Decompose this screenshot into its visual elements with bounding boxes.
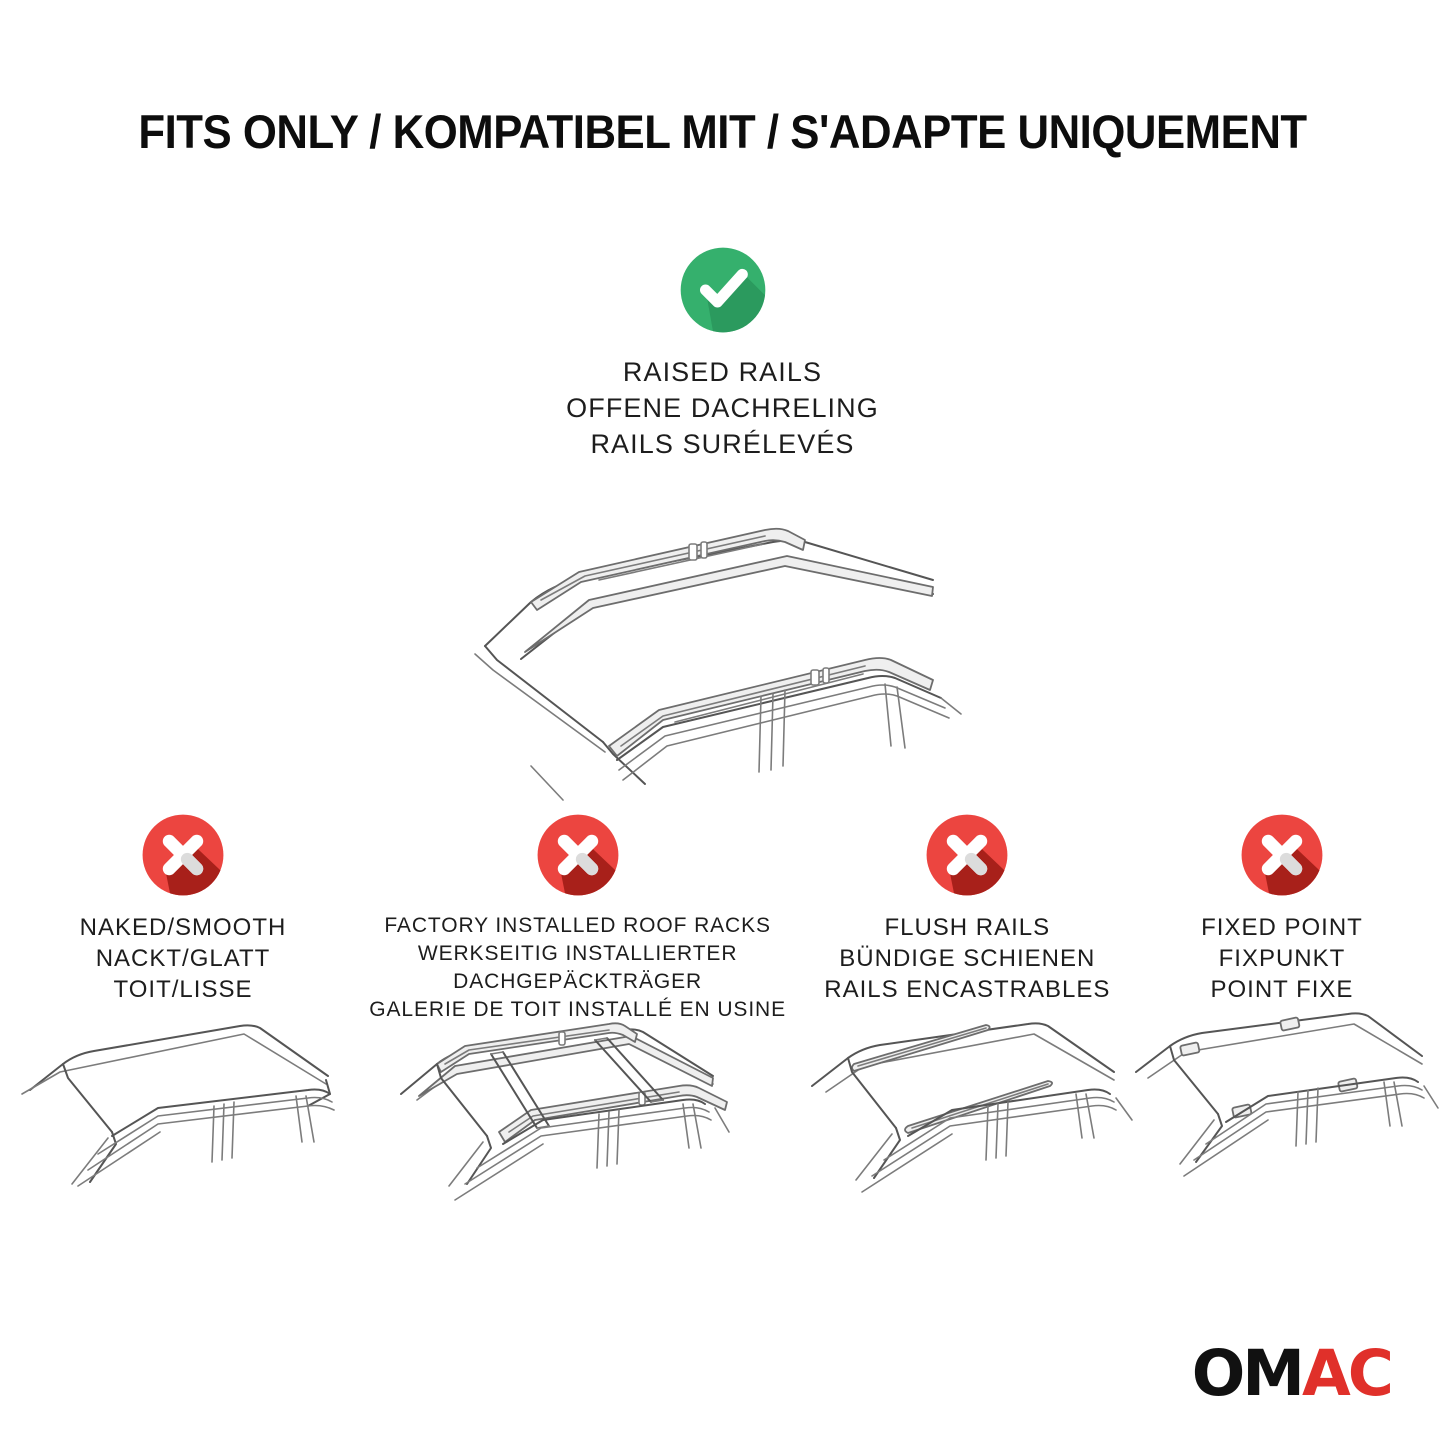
flush-rails-label: FLUSH RAILS BÜNDIGE SCHIENEN RAILS ENCAS… [824,912,1110,1005]
incompatible-item-factory-racks: FACTORY INSTALLED ROOF RACKS WERKSEITIG … [358,812,798,1024]
fixed-point-label: FIXED POINT FIXPUNKT POINT FIXE [1201,912,1363,1005]
red-x-circle-icon [535,812,621,898]
logo-text-ac: AC [1302,1342,1391,1405]
compatible-label-line-1: RAISED RAILS [566,354,879,390]
car-roof-factory-racks-illustration [383,1008,773,1238]
red-x-circle-icon [140,812,226,898]
naked-smooth-label-line-2: NACKT/GLATT [80,943,287,974]
car-roof-raised-rails-illustration [413,484,1033,804]
naked-smooth-label-line-3: TOIT/LISSE [80,974,287,1005]
flush-rails-label-line-2: BÜNDIGE SCHIENEN [824,943,1110,974]
car-roof-naked-smooth-illustration [8,1002,358,1232]
factory-racks-label-line-1: FACTORY INSTALLED ROOF RACKS [369,912,786,940]
car-roof-factory-racks-illustration-wrap [383,1008,773,1238]
naked-smooth-label: NAKED/SMOOTH NACKT/GLATT TOIT/LISSE [80,912,287,1005]
incompatible-item-naked-smooth: NAKED/SMOOTH NACKT/GLATT TOIT/LISSE [18,812,348,1005]
car-roof-flush-rails-illustration [792,1002,1142,1232]
fixed-point-label-line-2: FIXPUNKT [1201,943,1363,974]
incompatible-section: NAKED/SMOOTH NACKT/GLATT TOIT/LISSE [0,812,1445,1024]
car-roof-fixed-point-illustration [1122,1002,1442,1232]
flush-rails-label-line-1: FLUSH RAILS [824,912,1110,943]
flush-rails-label-line-3: RAILS ENCASTRABLES [824,974,1110,1005]
car-roof-naked-smooth-illustration-wrap [8,1002,358,1232]
fixed-point-label-line-1: FIXED POINT [1201,912,1363,943]
compatible-section: RAISED RAILS OFFENE DACHRELING RAILS SUR… [0,244,1445,804]
factory-racks-label-line-3: DACHGEPÄCKTRÄGER [369,968,786,996]
compatible-label: RAISED RAILS OFFENE DACHRELING RAILS SUR… [566,354,879,462]
green-check-circle-icon [677,244,769,336]
compatible-label-line-2: OFFENE DACHRELING [566,390,879,426]
logo-text-om: OM [1192,1342,1302,1405]
omac-logo: OMAC [1192,1342,1391,1405]
incompatible-item-fixed-point: FIXED POINT FIXPUNKT POINT FIXE [1137,812,1427,1005]
car-roof-fixed-point-illustration-wrap [1122,1002,1442,1232]
page-title: FITS ONLY / KOMPATIBEL MIT / S'ADAPTE UN… [51,104,1395,159]
incompatible-item-flush-rails: FLUSH RAILS BÜNDIGE SCHIENEN RAILS ENCAS… [807,812,1127,1005]
compatible-label-line-3: RAILS SURÉLEVÉS [566,426,879,462]
red-x-circle-icon [924,812,1010,898]
naked-smooth-label-line-1: NAKED/SMOOTH [80,912,287,943]
factory-racks-label-line-2: WERKSEITIG INSTALLIERTER [369,940,786,968]
fixed-point-label-line-3: POINT FIXE [1201,974,1363,1005]
red-x-circle-icon [1239,812,1325,898]
car-roof-flush-rails-illustration-wrap [792,1002,1142,1232]
